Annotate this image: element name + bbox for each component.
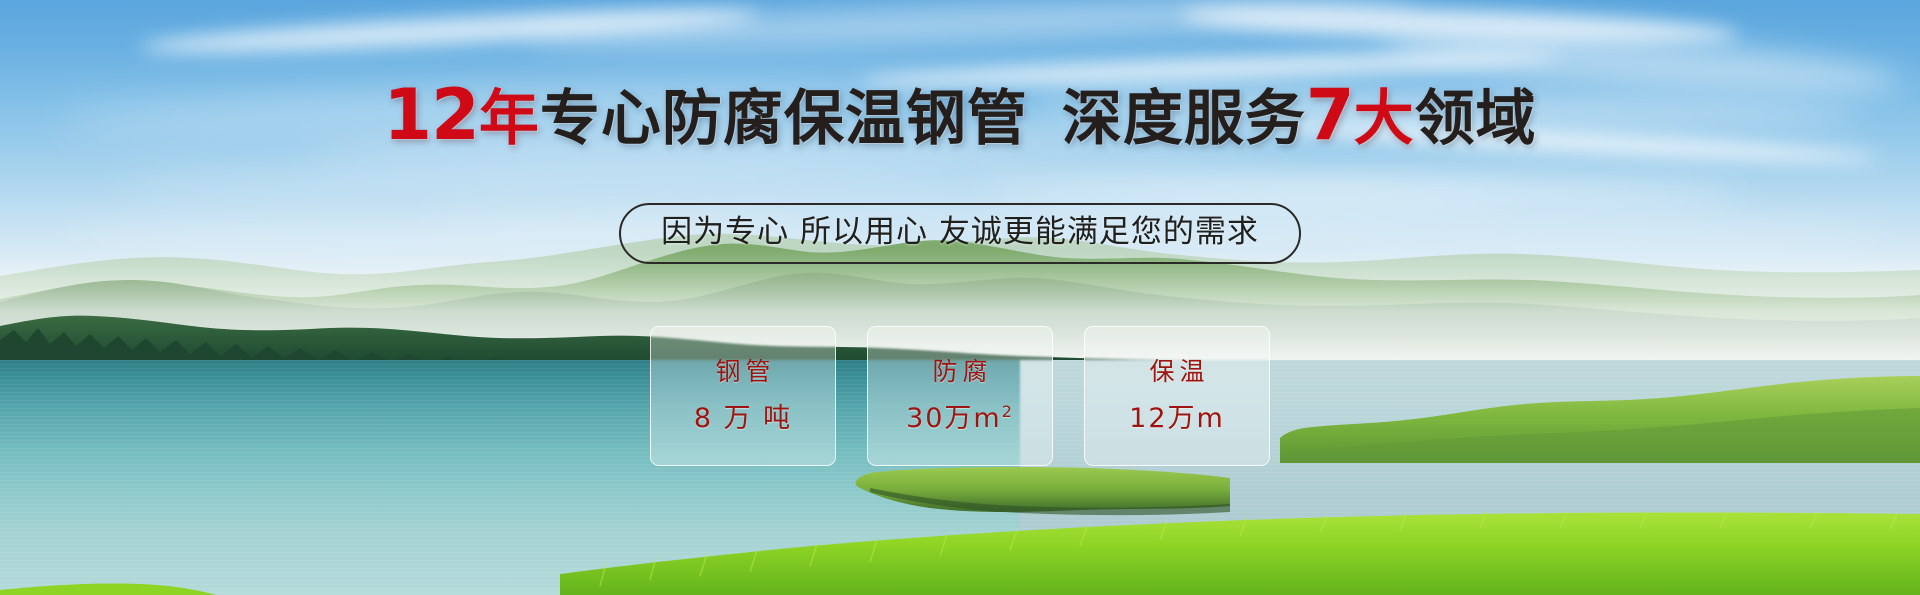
subtitle-wrapper: 因为专心 所以用心 友诚更能满足您的需求 [0, 203, 1920, 264]
headline-fields-unit: 大 [1354, 84, 1415, 154]
headline-years-unit: 年 [479, 84, 540, 154]
stat-card-value-text: 30万m [906, 403, 1002, 434]
headline: 12年专心防腐保温钢管深度服务7大领域 [0, 82, 1920, 152]
headline-fields-suffix: 领域 [1415, 84, 1537, 154]
stat-card-label: 保温 [1144, 357, 1209, 387]
stat-card-anticorrosion[interactable]: 防腐 30万m2 [867, 326, 1053, 466]
headline-fields-number: 7 [1306, 74, 1354, 156]
stat-card-steel-pipe[interactable]: 钢管 8 万 吨 [650, 326, 836, 466]
stat-card-label: 钢管 [710, 357, 775, 387]
headline-main: 专心防腐保温钢管 [540, 84, 1028, 154]
stat-card-insulation[interactable]: 保温 12万m [1084, 326, 1270, 466]
stat-card-value: 8 万 吨 [694, 403, 792, 435]
stat-card-value-text: 12万m [1129, 403, 1225, 434]
headline-years-number: 12 [383, 74, 478, 156]
stat-card-value-text: 8 万 吨 [694, 403, 792, 434]
stat-card-value: 30万m2 [906, 403, 1014, 435]
stat-card-group: 钢管 8 万 吨 防腐 30万m2 保温 12万m [650, 326, 1270, 466]
subtitle-pill: 因为专心 所以用心 友诚更能满足您的需求 [619, 203, 1301, 264]
banner-content: 12年专心防腐保温钢管深度服务7大领域 因为专心 所以用心 友诚更能满足您的需求… [0, 0, 1920, 595]
stat-card-label: 防腐 [927, 357, 992, 387]
hero-banner: 12年专心防腐保温钢管深度服务7大领域 因为专心 所以用心 友诚更能满足您的需求… [0, 0, 1920, 595]
headline-service: 深度服务 [1062, 84, 1306, 154]
stat-card-value-superscript: 2 [1002, 402, 1014, 421]
stat-card-value: 12万m [1129, 403, 1225, 435]
